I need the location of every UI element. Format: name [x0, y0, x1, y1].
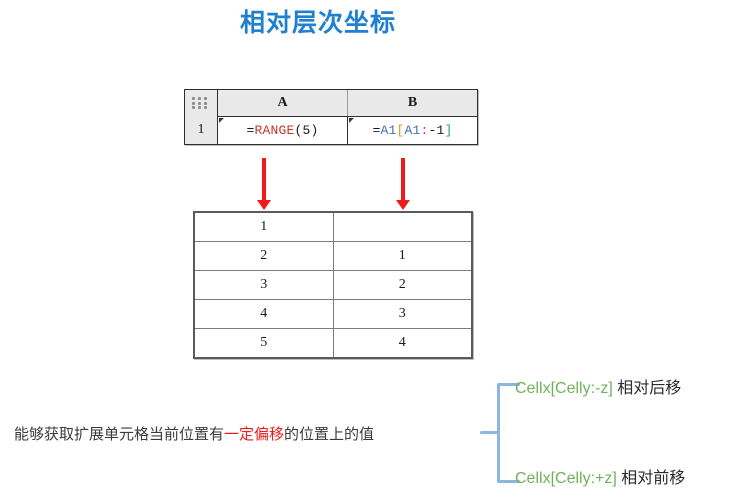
label-relative-forward: Cellx[Celly:+z] 相对前移 — [515, 468, 685, 490]
cell-marker-icon — [219, 118, 224, 123]
result-cell-b2: 1 — [333, 242, 472, 271]
description-after: 的位置上的值 — [284, 426, 374, 443]
spreadsheet-header-row: A B — [185, 90, 477, 116]
result-cell-a5: 5 — [194, 329, 333, 359]
result-cell-b1 — [333, 212, 472, 242]
table-row: 1 — [194, 212, 472, 242]
cell-b1-text: =A1[A1:-1] — [372, 123, 452, 138]
table-row: 4 3 — [194, 300, 472, 329]
label-forward-cn: 相对前移 — [621, 470, 685, 487]
description-text: 能够获取扩展单元格当前位置有一定偏移的位置上的值 — [14, 424, 374, 446]
spreadsheet-row-1: 1 =RANGE(5) =A1[A1:-1] — [185, 116, 477, 144]
column-header-b[interactable]: B — [348, 90, 477, 116]
result-table: 1 2 1 3 2 4 3 5 4 — [193, 211, 473, 359]
table-row: 2 1 — [194, 242, 472, 271]
label-backward-code: Cellx[Celly:-z] — [515, 380, 613, 397]
label-backward-cn: 相对后移 — [617, 380, 681, 397]
result-cell-a1: 1 — [194, 212, 333, 242]
result-cell-b3: 2 — [333, 271, 472, 300]
table-row: 3 2 — [194, 271, 472, 300]
result-cell-a4: 4 — [194, 300, 333, 329]
cell-marker-icon — [349, 118, 354, 123]
label-relative-backward: Cellx[Celly:-z] 相对后移 — [515, 378, 681, 400]
formula-spreadsheet: A B 1 =RANGE(5) =A1[A1:-1] — [184, 89, 478, 145]
grid-dots-icon — [192, 97, 209, 110]
result-cell-a2: 2 — [194, 242, 333, 271]
cell-b1[interactable]: =A1[A1:-1] — [348, 116, 477, 144]
result-cell-b5: 4 — [333, 329, 472, 359]
description-highlight: 一定偏移 — [224, 426, 284, 443]
cell-a1[interactable]: =RANGE(5) — [218, 116, 348, 144]
page-title: 相对层次坐标 — [0, 6, 636, 40]
result-cell-a3: 3 — [194, 271, 333, 300]
arrow-down-icon-a — [257, 158, 271, 210]
select-all-corner[interactable] — [185, 90, 218, 116]
label-forward-code: Cellx[Celly:+z] — [515, 470, 617, 487]
description-before: 能够获取扩展单元格当前位置有 — [14, 426, 224, 443]
table-row: 5 4 — [194, 329, 472, 359]
column-header-a[interactable]: A — [218, 90, 348, 116]
arrow-down-icon-b — [396, 158, 410, 210]
cell-a1-text: =RANGE(5) — [246, 123, 318, 138]
row-header-1[interactable]: 1 — [185, 116, 218, 144]
result-cell-b4: 3 — [333, 300, 472, 329]
